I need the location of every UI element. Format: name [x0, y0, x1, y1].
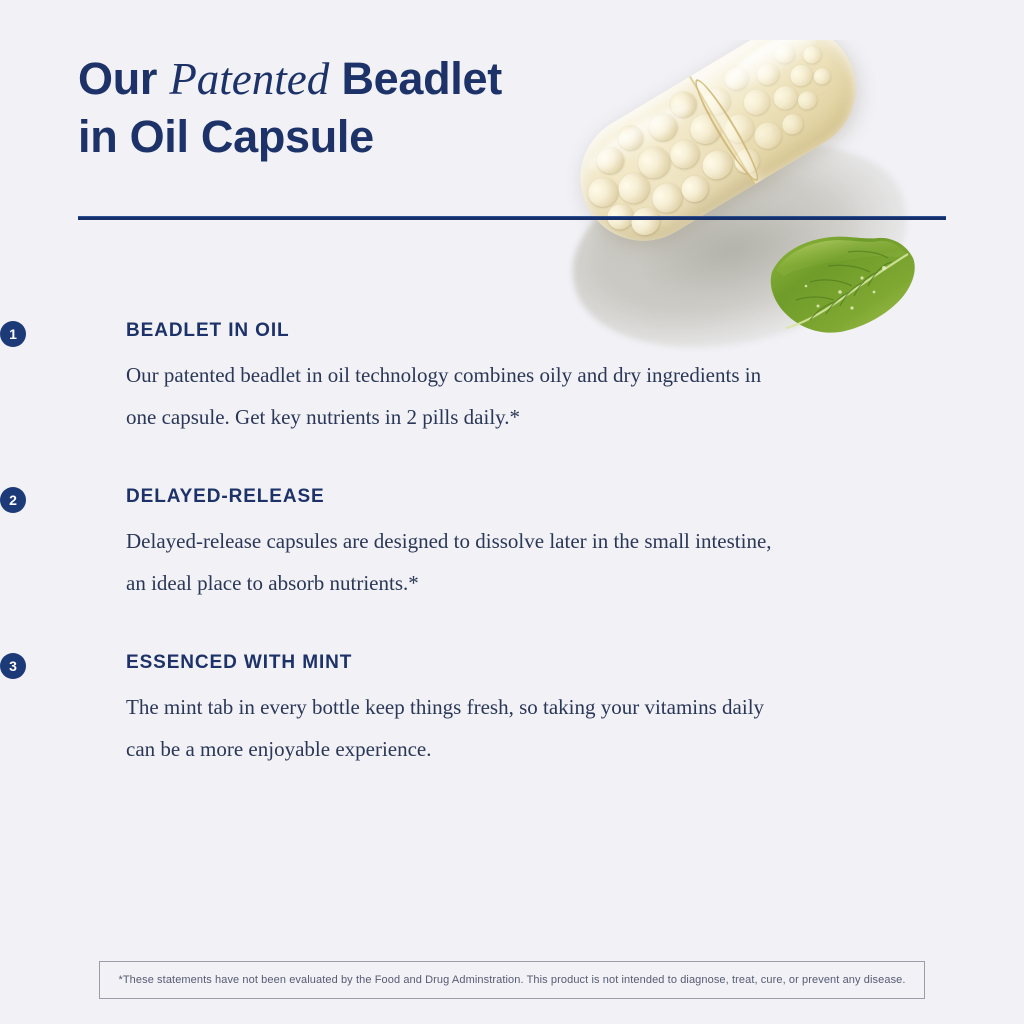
feature-item-essenced-with-mint: 3 Essenced with Mint The mint tab in eve… [0, 650, 1024, 770]
feature-body: The mint tab in every bottle keep things… [126, 686, 776, 770]
disclaimer-text: *These statements have not been evaluate… [108, 973, 915, 987]
feature-title: Delayed-Release [126, 484, 1024, 510]
disclaimer-box: *These statements have not been evaluate… [99, 961, 925, 999]
feature-body: Our patented beadlet in oil technology c… [126, 354, 776, 438]
page-title-line2: in Oil Capsule [78, 111, 374, 162]
page-title: Our Patented Beadletin Oil Capsule [78, 50, 598, 165]
feature-title: Essenced with Mint [126, 650, 1024, 676]
page-title-suffix: Beadlet [329, 53, 502, 104]
feature-body: Delayed-release capsules are designed to… [126, 520, 776, 604]
feature-number-badge: 3 [0, 653, 26, 679]
feature-number-badge: 2 [0, 487, 26, 513]
hero-section: Our Patented Beadletin Oil Capsule [0, 0, 1024, 310]
page-title-prefix: Our [78, 53, 169, 104]
feature-item-delayed-release: 2 Delayed-Release Delayed-release capsul… [0, 484, 1024, 604]
header-divider [78, 216, 946, 220]
product-feature-panel: Our Patented Beadletin Oil Capsule [0, 0, 1024, 1024]
feature-list: 1 Beadlet in Oil Our patented beadlet in… [0, 318, 1024, 770]
feature-title: Beadlet in Oil [126, 318, 1024, 344]
page-title-emphasis: Patented [169, 54, 329, 104]
feature-item-beadlet-in-oil: 1 Beadlet in Oil Our patented beadlet in… [0, 318, 1024, 438]
feature-number-badge: 1 [0, 321, 26, 347]
product-photo [548, 40, 968, 360]
